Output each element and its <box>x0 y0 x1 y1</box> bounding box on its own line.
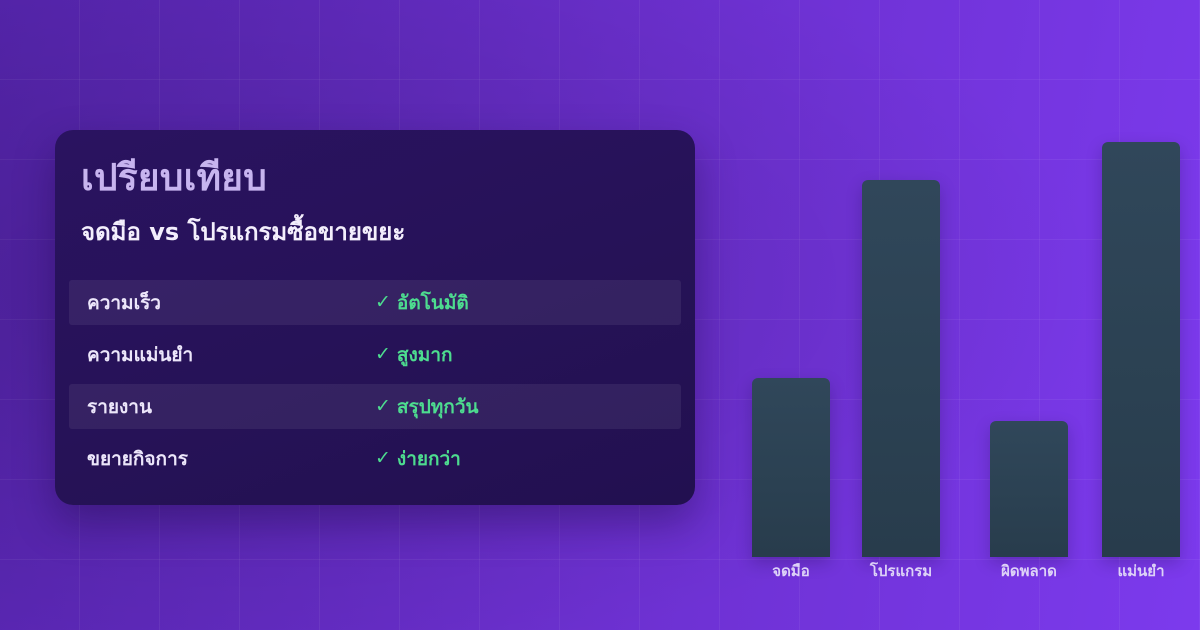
infographic-canvas: เปรียบเทียบ จดมือ vs โปรแกรมซื้อขายขยะ ค… <box>0 0 1200 630</box>
comparison-card: เปรียบเทียบ จดมือ vs โปรแกรมซื้อขายขยะ ค… <box>55 130 695 505</box>
chart-bar-label: ผิดพลาด <box>974 559 1084 583</box>
row-value-text: ง่ายกว่า <box>397 444 461 474</box>
table-row: รายงาน ✓ สรุปทุกวัน <box>69 384 681 429</box>
comparison-table: ความเร็ว ✓ อัตโนมัติ ความแม่นยำ ✓ สูงมาก… <box>69 280 681 488</box>
chart-bar-label: โปรแกรม <box>846 559 956 583</box>
row-value: ✓ อัตโนมัติ <box>375 288 469 318</box>
row-value-text: สรุปทุกวัน <box>397 392 479 422</box>
check-icon: ✓ <box>375 397 391 416</box>
table-row: ขยายกิจการ ✓ ง่ายกว่า <box>69 436 681 481</box>
check-icon: ✓ <box>375 345 391 364</box>
table-row: ความเร็ว ✓ อัตโนมัติ <box>69 280 681 325</box>
check-icon: ✓ <box>375 293 391 312</box>
chart-bar <box>1102 142 1180 557</box>
row-label: รายงาน <box>87 392 152 422</box>
row-label: ความเร็ว <box>87 288 161 318</box>
row-value: ✓ สูงมาก <box>375 340 453 370</box>
chart-bar <box>862 180 940 557</box>
bar-chart: จดมือ โปรแกรม ผิดพลาด แม่นยำ <box>740 120 1190 590</box>
row-label: ความแม่นยำ <box>87 340 193 370</box>
chart-bar-label: จดมือ <box>736 559 846 583</box>
row-value: ✓ สรุปทุกวัน <box>375 392 478 422</box>
row-value: ✓ ง่ายกว่า <box>375 444 461 474</box>
check-icon: ✓ <box>375 449 391 468</box>
row-label: ขยายกิจการ <box>87 444 188 474</box>
row-value-text: อัตโนมัติ <box>397 288 469 318</box>
chart-bar <box>752 378 830 557</box>
chart-bar-label: แม่นยำ <box>1086 559 1196 583</box>
chart-bar <box>990 421 1068 557</box>
page-title: เปรียบเทียบ <box>81 158 267 199</box>
card-subtitle: จดมือ vs โปรแกรมซื้อขายขยะ <box>81 218 405 247</box>
table-row: ความแม่นยำ ✓ สูงมาก <box>69 332 681 377</box>
row-value-text: สูงมาก <box>397 340 453 370</box>
